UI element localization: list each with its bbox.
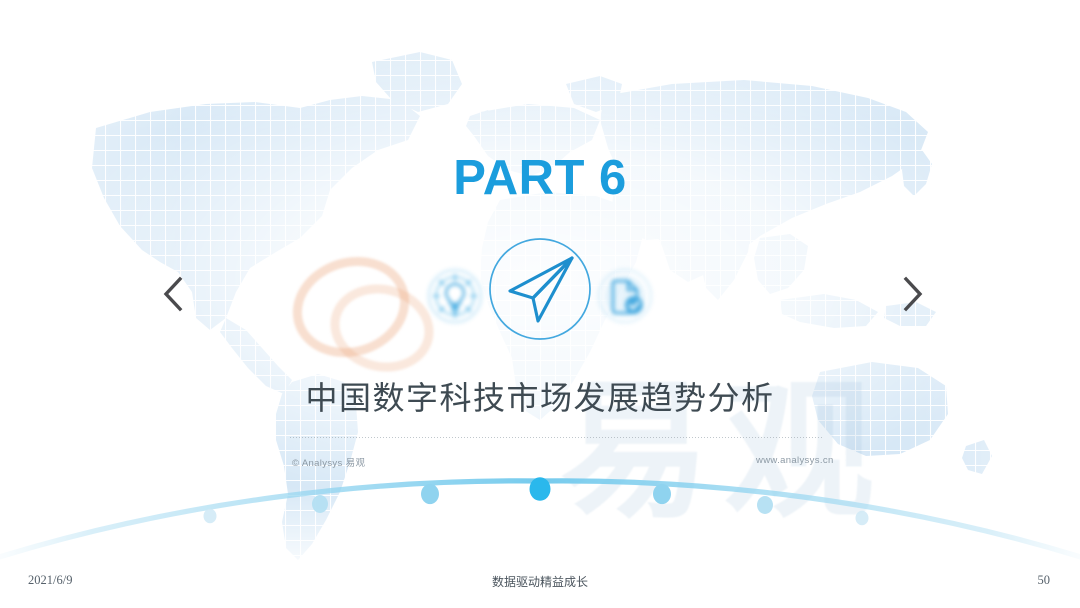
progress-dot[interactable] (757, 496, 773, 514)
progress-dot[interactable] (856, 511, 869, 526)
progress-arc (0, 455, 1080, 565)
prev-slide-arrow-icon[interactable] (152, 272, 196, 316)
paper-plane-icon (488, 237, 592, 341)
slide-footer: 2021/6/9 数据驱动精益成长 50 (0, 573, 1080, 601)
progress-dot[interactable] (653, 484, 671, 504)
document-check-icon (597, 268, 653, 324)
footer-page-number: 50 (1038, 573, 1051, 588)
footer-slogan: 数据驱动精益成长 (0, 573, 1080, 590)
progress-dot[interactable] (204, 509, 217, 524)
progress-dots-group (204, 477, 869, 525)
slide-subtitle: 中国数字科技市场发展趋势分析 (0, 373, 1080, 419)
divider-line (290, 437, 822, 438)
page-title: PART 6 (0, 150, 1080, 206)
progress-dot[interactable] (421, 484, 439, 504)
lightbulb-icon (427, 268, 483, 324)
progress-dot[interactable] (312, 495, 328, 513)
progress-dot[interactable] (530, 477, 551, 501)
slide-canvas: 易观 PART 6 (0, 0, 1080, 608)
next-slide-arrow-icon[interactable] (890, 272, 934, 316)
